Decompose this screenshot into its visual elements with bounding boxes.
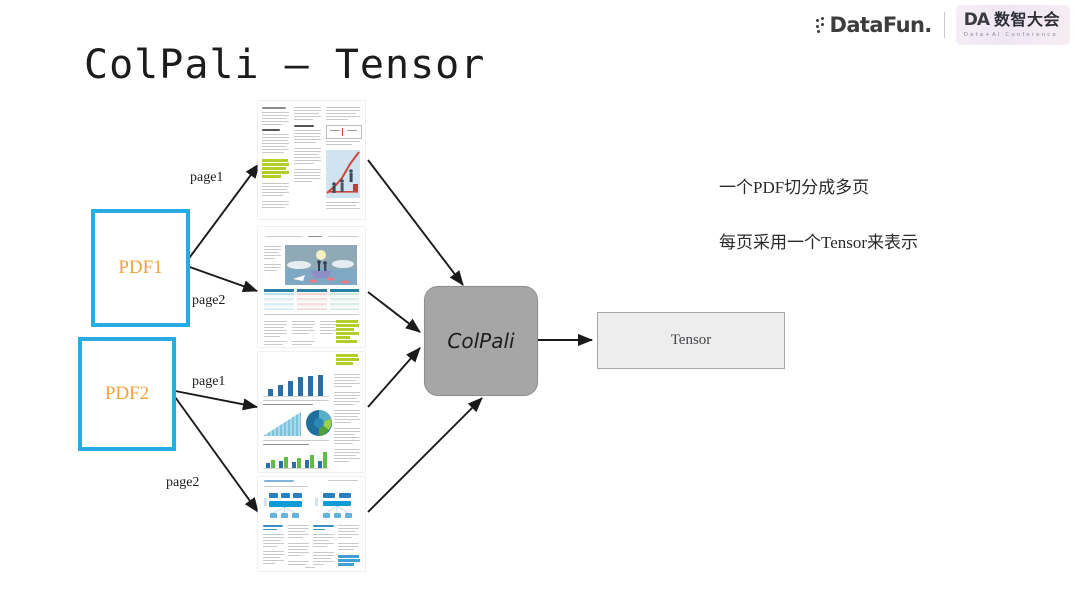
pdf1-source-box[interactable]: PDF1 (91, 209, 190, 327)
thumb1-illustration (326, 150, 360, 198)
thumb4-architecture-left (264, 493, 308, 521)
thumb1-col-right (326, 105, 361, 215)
thumb3-highlight (336, 354, 360, 368)
datafun-logo: DataFun. (816, 8, 944, 42)
note-tensor: 每页采用一个Tensor来表示 (719, 228, 918, 253)
page-thumb-3[interactable] (258, 352, 365, 472)
thumb1-col-mid (294, 105, 322, 215)
pdf2-label: PDF2 (105, 383, 149, 405)
datafun-dots-icon (816, 17, 829, 33)
thumb3-bar-chart-2 (263, 449, 329, 469)
thumb1-inset-box (326, 125, 362, 139)
tensor-label: Tensor (671, 332, 712, 349)
conference-logo: DA 数智大会 Data+AI Conference (956, 5, 1070, 45)
edge-label-pdf2-page2: page2 (166, 475, 199, 491)
thumb4-blue-callout (338, 555, 360, 569)
note-split: 一个PDF切分成多页 (719, 173, 869, 198)
edge-label-pdf1-page2: page2 (192, 293, 225, 309)
logo-divider (944, 12, 945, 38)
pdf2-source-box[interactable]: PDF2 (78, 337, 176, 451)
edge-label-pdf2-page1: page1 (192, 374, 225, 390)
colpali-label: ColPali (447, 329, 514, 353)
thumb2-hero-image (285, 245, 357, 285)
page-thumb-2[interactable] (258, 227, 365, 347)
page-thumb-4[interactable] (258, 477, 365, 571)
pdf1-label: PDF1 (118, 257, 162, 279)
page-title: ColPali — Tensor (84, 42, 485, 88)
thumb3-area-chart (263, 410, 301, 436)
thumb3-bar-chart-1 (263, 370, 329, 397)
thumb2-table-3 (330, 289, 359, 311)
thumb4-architecture-right (315, 493, 359, 521)
thumb2-table-2 (297, 289, 327, 311)
thumb1-col-left (262, 105, 290, 215)
slide-canvas: DataFun. DA 数智大会 Data+AI Conference ColP… (0, 0, 1080, 597)
datafun-logo-text: DataFun. (830, 15, 932, 36)
conference-name: 数智大会 (994, 12, 1060, 28)
edge-label-pdf1-page1: page1 (190, 170, 223, 186)
thumb3-pie-chart (305, 409, 333, 437)
thumb2-table-1 (264, 289, 294, 311)
tensor-output-box[interactable]: Tensor (597, 312, 785, 369)
conference-subtitle: Data+AI Conference (964, 33, 1060, 39)
page-thumb-1[interactable] (258, 101, 365, 219)
conference-badge-icon: DA (964, 12, 989, 29)
header-logo-bar: DataFun. DA 数智大会 Data+AI Conference (816, 8, 1071, 42)
colpali-model-box[interactable]: ColPali (424, 286, 538, 396)
